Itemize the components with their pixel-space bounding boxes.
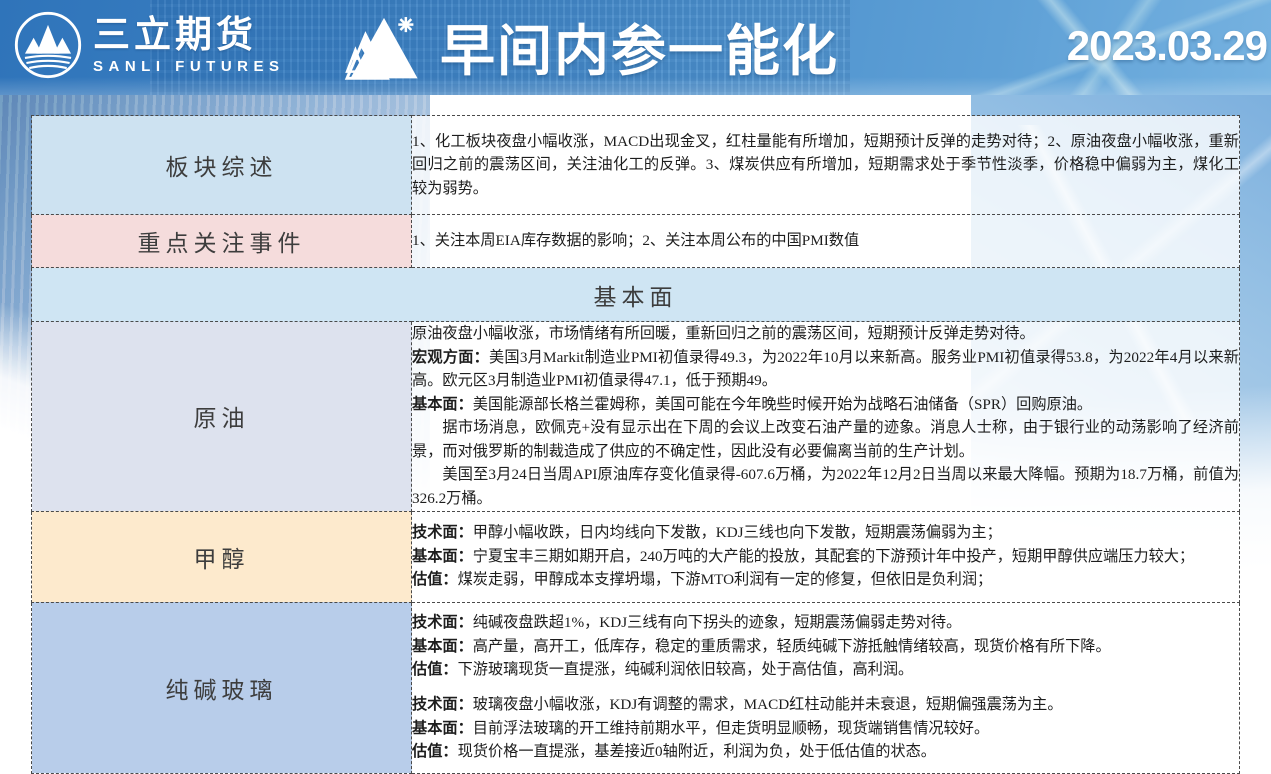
paragraph: 1、化工板块夜盘小幅收涨，MACD出现金叉，红柱量能有所增加，短期预计反弹的走势… <box>412 130 1239 201</box>
paragraph-text: 现货价格一直提涨，基差接近0轴附近，利润为负，处于低估值的状态。 <box>458 743 936 760</box>
row-body-methanol: 技术面：甲醇小幅收跌，日内均线向下发散，KDJ三线也向下发散，短期震荡偏弱为主；… <box>412 511 1240 602</box>
paragraph-label: 宏观方面： <box>412 349 489 366</box>
table-row: 原油 原油夜盘小幅收涨，市场情绪有所回暖，重新回归之前的震荡区间，短期预计反弹走… <box>32 322 1240 512</box>
paragraph-text: 纯碱夜盘跌超1%，KDJ三线有向下拐头的迹象，短期震荡偏弱走势对待。 <box>473 614 962 631</box>
paragraph-label: 估值： <box>412 661 458 678</box>
table-section-row: 基本面 <box>32 268 1240 322</box>
paragraph: 原油夜盘小幅收涨，市场情绪有所回暖，重新回归之前的震荡区间，短期预计反弹走势对待… <box>412 322 1239 346</box>
paragraph-text: 玻璃夜盘小幅收涨，KDJ有调整的需求，MACD红柱动能并未衰退，短期偏强震荡为主… <box>473 696 1063 713</box>
paragraph-label: 估值： <box>412 743 458 760</box>
paragraph: 美国至3月24日当周API原油库存变化值录得-607.6万桶，为2022年12月… <box>412 463 1239 510</box>
paragraph-spacer <box>412 682 1239 693</box>
paragraph-text: 甲醇小幅收跌，日内均线向下发散，KDJ三线也向下发散，短期震荡偏弱为主； <box>473 524 1002 541</box>
row-body-overview: 1、化工板块夜盘小幅收涨，MACD出现金叉，红柱量能有所增加，短期预计反弹的走势… <box>412 116 1240 215</box>
paragraph-label: 基本面： <box>412 396 473 413</box>
paragraph-label: 技术面： <box>412 524 473 541</box>
header-date: 2023.03.29 <box>1067 22 1267 70</box>
logo-english-name: SANLI FUTURES <box>93 59 285 74</box>
paragraph-label: 基本面： <box>412 720 473 737</box>
section-header-fundamentals: 基本面 <box>32 268 1240 322</box>
row-category-key-events: 重点关注事件 <box>32 215 412 268</box>
paragraph-label: 估值： <box>412 571 458 588</box>
paragraph-text: 美国3月Markit制造业PMI初值录得49.3，为2022年10月以来新高。服… <box>412 349 1239 390</box>
paragraph: 基本面：高产量，高开工，低库存，稳定的重质需求，轻质纯碱下游抵触情绪较高，现货价… <box>412 635 1239 659</box>
paragraph: 宏观方面：美国3月Markit制造业PMI初值录得49.3，为2022年10月以… <box>412 346 1239 393</box>
row-category-crude-oil: 原油 <box>32 322 412 512</box>
paragraph: 基本面：目前浮法玻璃的开工维持前期水平，但走货明显顺畅，现货端销售情况较好。 <box>412 717 1239 741</box>
table-row: 纯碱玻璃 技术面：纯碱夜盘跌超1%，KDJ三线有向下拐头的迹象，短期震荡偏弱走势… <box>32 602 1240 773</box>
paragraph-text: 煤炭走弱，甲醇成本支撑坍塌，下游MTO利润有一定的修复，但依旧是负利润； <box>458 571 993 588</box>
snow-mountain-icon <box>342 6 426 86</box>
paragraph: 技术面：甲醇小幅收跌，日内均线向下发散，KDJ三线也向下发散，短期震荡偏弱为主； <box>412 521 1239 545</box>
header-title-block: 早间内参一能化 <box>342 6 839 86</box>
row-category-methanol: 甲醇 <box>32 511 412 602</box>
company-logo: 三立期货 SANLI FUTURES <box>12 9 285 81</box>
row-category-overview: 板块综述 <box>32 116 412 215</box>
paragraph: 估值：煤炭走弱，甲醇成本支撑坍塌，下游MTO利润有一定的修复，但依旧是负利润； <box>412 568 1239 592</box>
table-row: 重点关注事件 1、关注本周EIA库存数据的影响；2、关注本周公布的中国PMI数值 <box>32 215 1240 268</box>
row-body-soda-ash-glass: 技术面：纯碱夜盘跌超1%，KDJ三线有向下拐头的迹象，短期震荡偏弱走势对待。 基… <box>412 602 1240 773</box>
paragraph-label: 基本面： <box>412 638 473 655</box>
row-body-crude-oil: 原油夜盘小幅收涨，市场情绪有所回暖，重新回归之前的震荡区间，短期预计反弹走势对待… <box>412 322 1240 512</box>
page-header-banner: 三立期货 SANLI FUTURES 早间内参一能化 2023.03.29 <box>0 0 1271 95</box>
row-category-soda-ash-glass: 纯碱玻璃 <box>32 602 412 773</box>
paragraph-text: 目前浮法玻璃的开工维持前期水平，但走货明显顺畅，现货端销售情况较好。 <box>473 720 989 737</box>
mountain-circle-logo-icon <box>12 9 84 81</box>
paragraph-text: 美国能源部长格兰霍姆称，美国可能在今年晚些时候开始为战略石油储备（SPR）回购原… <box>473 396 1092 413</box>
paragraph-label: 技术面： <box>412 614 473 631</box>
paragraph: 基本面：宁夏宝丰三期如期开启，240万吨的大产能的投放，其配套的下游预计年中投产… <box>412 545 1239 569</box>
paragraph-text: 下游玻璃现货一直提涨，纯碱利润依旧较高，处于高估值，高利润。 <box>458 661 914 678</box>
table-row: 板块综述 1、化工板块夜盘小幅收涨，MACD出现金叉，红柱量能有所增加，短期预计… <box>32 116 1240 215</box>
morning-report-table: 板块综述 1、化工板块夜盘小幅收涨，MACD出现金叉，红柱量能有所增加，短期预计… <box>31 115 1240 774</box>
paragraph-label: 基本面： <box>412 548 473 565</box>
paragraph: 估值：下游玻璃现货一直提涨，纯碱利润依旧较高，处于高估值，高利润。 <box>412 658 1239 682</box>
table-row: 甲醇 技术面：甲醇小幅收跌，日内均线向下发散，KDJ三线也向下发散，短期震荡偏弱… <box>32 511 1240 602</box>
paragraph: 1、关注本周EIA库存数据的影响；2、关注本周公布的中国PMI数值 <box>412 229 1239 253</box>
paragraph-text: 宁夏宝丰三期如期开启，240万吨的大产能的投放，其配套的下游预计年中投产，短期甲… <box>473 548 1194 565</box>
logo-chinese-name: 三立期货 <box>93 16 285 53</box>
row-body-key-events: 1、关注本周EIA库存数据的影响；2、关注本周公布的中国PMI数值 <box>412 215 1240 268</box>
paragraph-label: 技术面： <box>412 696 473 713</box>
paragraph: 技术面：纯碱夜盘跌超1%，KDJ三线有向下拐头的迹象，短期震荡偏弱走势对待。 <box>412 611 1239 635</box>
paragraph-text: 高产量，高开工，低库存，稳定的重质需求，轻质纯碱下游抵触情绪较高，现货价格有所下… <box>473 638 1111 655</box>
paragraph: 据市场消息，欧佩克+没有显示出在下周的会议上改变石油产量的迹象。消息人士称，由于… <box>412 416 1239 463</box>
paragraph: 基本面：美国能源部长格兰霍姆称，美国可能在今年晚些时候开始为战略石油储备（SPR… <box>412 393 1239 417</box>
page-title: 早间内参一能化 <box>440 6 839 86</box>
paragraph: 技术面：玻璃夜盘小幅收涨，KDJ有调整的需求，MACD红柱动能并未衰退，短期偏强… <box>412 693 1239 717</box>
paragraph: 估值：现货价格一直提涨，基差接近0轴附近，利润为负，处于低估值的状态。 <box>412 740 1239 764</box>
